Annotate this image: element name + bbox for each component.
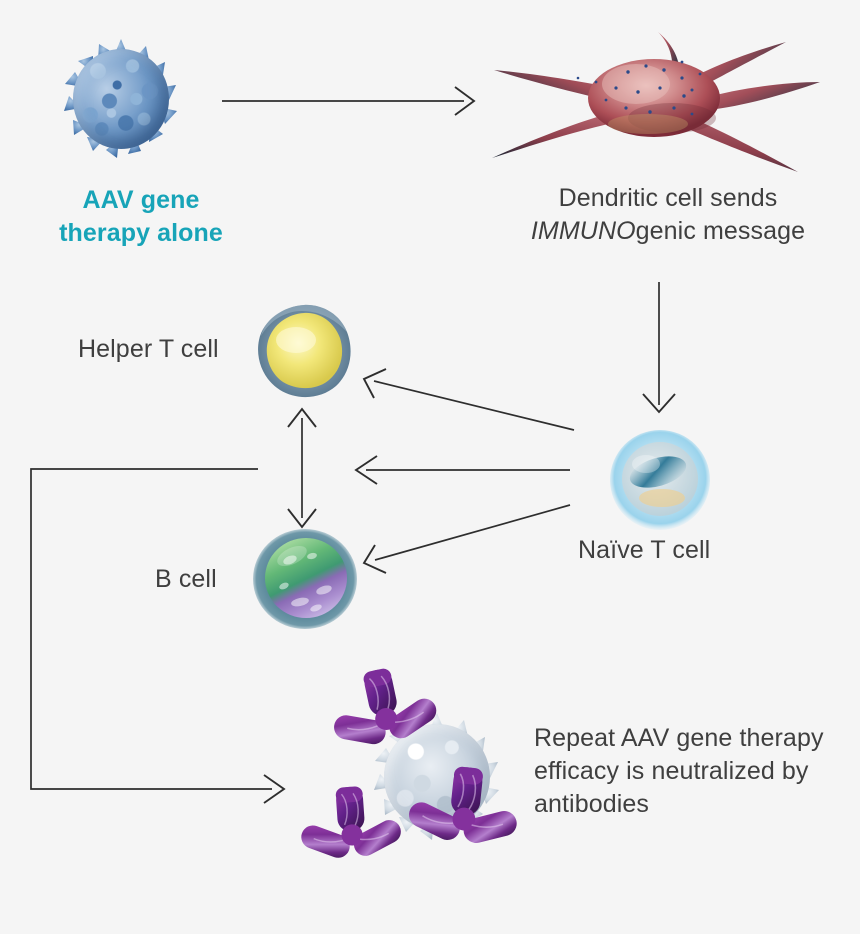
- label-b-cell: B cell: [155, 563, 275, 596]
- label-immuno-emphasis: IMMUNO: [531, 217, 636, 245]
- arrow-naive-to-helper: [364, 369, 574, 430]
- arrow-aav-to-dendritic: [222, 87, 474, 115]
- aav-capsid-surface: [73, 49, 170, 149]
- dendritic-cell-icon: [486, 26, 822, 178]
- aav-capsid-icon: [62, 38, 180, 160]
- arrow-feedback-to-antibodies: [31, 469, 284, 803]
- label-aav-gene-therapy-alone: AAV gene therapy alone: [36, 184, 246, 250]
- arrow-helper-bcell-bidirectional: [288, 409, 316, 527]
- arrow-dendritic-to-naive: [643, 282, 675, 412]
- arrow-naive-to-bcell-mid: [356, 456, 570, 484]
- diagram-canvas: AAV gene therapy alone Dendritic cell se…: [0, 0, 860, 934]
- label-helper-t-cell: Helper T cell: [78, 333, 253, 366]
- label-repeat-therapy-neutralized: Repeat AAV gene therapy efficacy is neut…: [534, 722, 844, 821]
- naive-t-cell-icon: [608, 428, 712, 532]
- arrow-naive-to-bcell: [364, 505, 570, 573]
- antibody-icon: [296, 778, 407, 889]
- antibody-icon: [402, 756, 525, 879]
- label-dendritic-line2-rest: genic message: [636, 217, 805, 245]
- label-dendritic-cell-message: Dendritic cell sendsIMMUNOgenic message: [508, 182, 828, 248]
- label-naive-t-cell: Naïve T cell: [578, 534, 773, 567]
- label-dendritic-line1: Dendritic cell sends: [559, 184, 778, 212]
- helper-t-cell-icon: [252, 302, 356, 400]
